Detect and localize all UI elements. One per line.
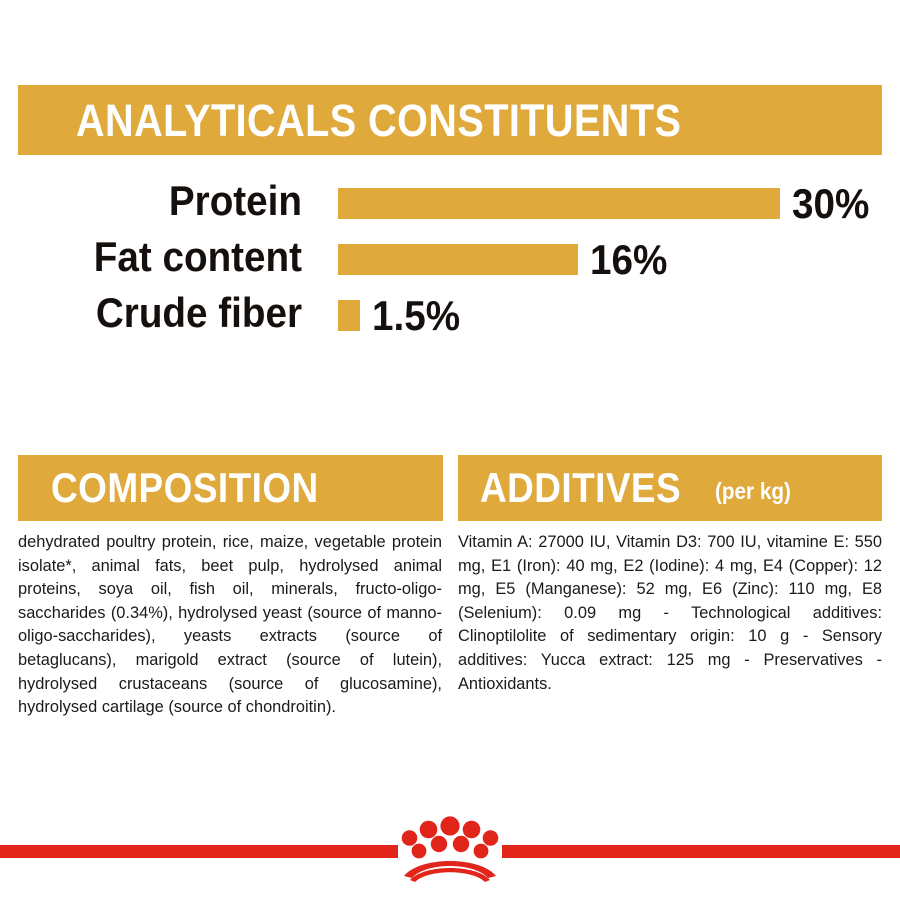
bar-fill-crude-fiber: [338, 300, 360, 331]
bar-value-crude-fiber: 1.5%: [372, 300, 460, 331]
chart-row: Crude fiber 1.5%: [0, 288, 900, 344]
additives-banner-suffix: (per kg): [715, 478, 791, 505]
footer-logo-band: [0, 800, 900, 900]
bar-value-protein: 30%: [792, 188, 869, 219]
additives-banner: ADDITIVES (per kg): [458, 455, 882, 521]
bar-label-crude-fiber: Crude fiber: [26, 288, 302, 338]
crown-icon: [390, 806, 510, 886]
bar-label-fat-content: Fat content: [26, 232, 302, 282]
analyticals-constituents-banner: ANALYTICALS CONSTITUENTS: [18, 85, 882, 155]
analyticals-constituents-chart: Protein 30% Fat content 16% Crude fiber …: [0, 176, 900, 344]
chart-row: Protein 30%: [0, 176, 900, 232]
footer-rule-left: [0, 845, 398, 858]
bar-label-protein: Protein: [26, 176, 302, 226]
label-page: ANALYTICALS CONSTITUENTS Protein 30% Fat…: [0, 0, 900, 900]
bar-track-protein: 30%: [338, 188, 876, 219]
composition-body-text: dehydrated poultry protein, rice, maize,…: [18, 531, 442, 720]
bar-track-crude-fiber: 1.5%: [338, 300, 468, 331]
composition-banner: COMPOSITION: [18, 455, 443, 521]
chart-row: Fat content 16%: [0, 232, 900, 288]
bar-fill-fat-content: [338, 244, 578, 275]
analyticals-banner-title: ANALYTICALS CONSTITUENTS: [76, 98, 681, 143]
additives-banner-title: ADDITIVES: [480, 467, 681, 509]
bar-value-fat-content: 16%: [590, 244, 667, 275]
bar-fill-protein: [338, 188, 780, 219]
composition-banner-title: COMPOSITION: [51, 467, 319, 509]
bar-track-fat-content: 16%: [338, 244, 674, 275]
footer-rule-right: [502, 845, 900, 858]
additives-body-text: Vitamin A: 27000 IU, Vitamin D3: 700 IU,…: [458, 531, 882, 696]
